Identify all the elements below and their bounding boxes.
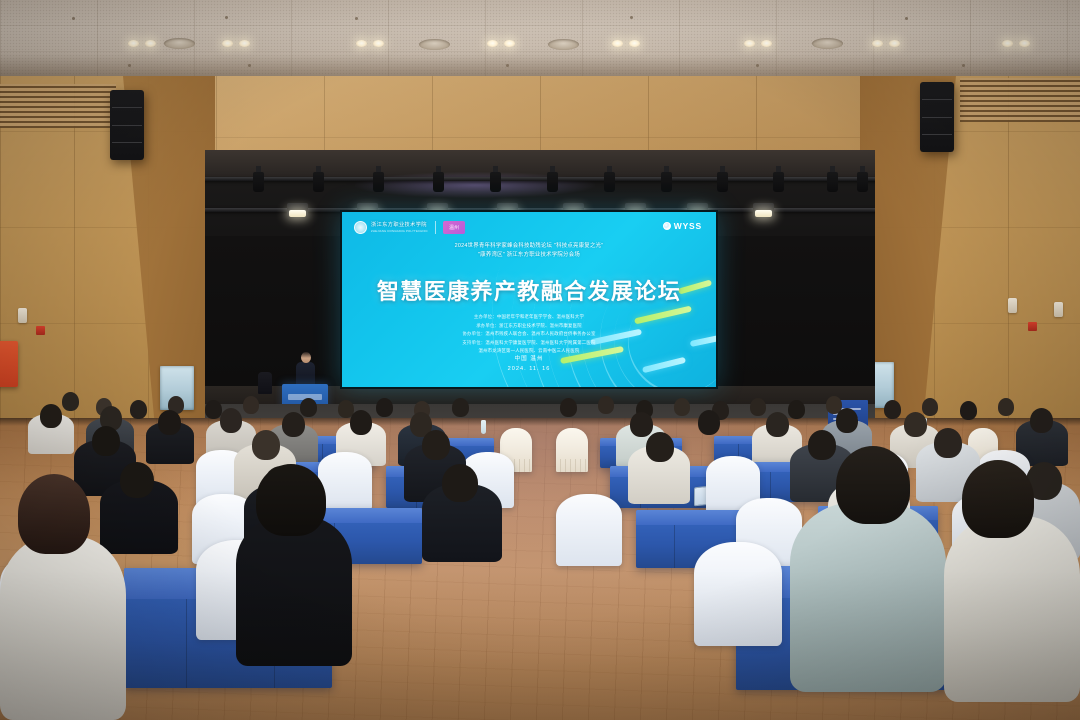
audience-head: [220, 408, 242, 433]
stage-spotlight: [604, 172, 615, 192]
conference-hall-photo: 浙江东方职业技术学院 ZHEJIANG DONGFANG POLYTECHNIC…: [0, 0, 1080, 720]
water-bottle: [481, 420, 486, 434]
ceiling-downlight: [612, 40, 623, 47]
host-university-name: 浙江东方职业技术学院: [371, 222, 428, 229]
audience-person-front-far-right: [944, 516, 1080, 702]
vip-chair-cover: [556, 428, 588, 472]
ceiling-downlight: [1019, 40, 1030, 47]
screen-subtitle-line-1: 2024世界青年科学家峰会科技助残论坛 "科技点亮康复之光": [342, 242, 716, 251]
right-wall-switch-box: [1054, 302, 1063, 317]
audience-head: [836, 408, 858, 433]
audience-head: [598, 396, 614, 414]
organizer-row: 协办单位：温州市残疾人联合会、温州市人民政府台侨事务办公室: [342, 330, 716, 339]
logo-divider: [435, 221, 436, 234]
audience-head: [92, 426, 120, 456]
screen-subtitle: 2024世界青年科学家峰会科技助残论坛 "科技点亮康复之光" "康养湾区" 浙江…: [342, 242, 716, 260]
ceiling-downlight: [239, 40, 250, 47]
audience-head: [750, 398, 766, 416]
sprinkler-head: [962, 64, 965, 67]
stage-spotlight: [717, 172, 728, 192]
audience-chair-cover: [694, 542, 782, 646]
audience-head: [630, 412, 653, 437]
audience-head: [130, 400, 147, 419]
audience-head: [904, 412, 927, 437]
ceiling-shadow-gradient: [0, 52, 1080, 78]
audience-head: [998, 398, 1014, 416]
audience-head: [18, 474, 90, 554]
stage-spotlight: [373, 172, 384, 192]
wyss-logo-text: WYSS: [674, 221, 702, 231]
audience-head: [836, 446, 910, 524]
sprinkler-head: [905, 17, 908, 20]
university-seal-icon: [354, 221, 367, 234]
organizer-value: 温州医科大学康复医学院、温州医科大学附属第二医院: [485, 340, 595, 345]
audience-person-front-right: [790, 502, 946, 692]
left-fire-alarm-sign: [36, 326, 45, 335]
host-university-logo: 浙江东方职业技术学院 ZHEJIANG DONGFANG POLYTECHNIC: [354, 221, 428, 234]
audience-head: [282, 412, 305, 437]
stage-spotlight: [433, 172, 444, 192]
screen-main-title: 智慧医康养产教融合发展论坛: [342, 274, 716, 306]
host-university-name-en: ZHEJIANG DONGFANG POLYTECHNIC: [371, 229, 428, 233]
screen-footer: 中国 温州 2024. 11. 16: [342, 354, 716, 375]
sprinkler-head: [225, 16, 228, 19]
audience-head: [158, 410, 181, 435]
audience-head: [120, 462, 154, 498]
audience-head: [300, 398, 317, 417]
organizer-row: 承办单位：浙江东方职业技术学院、温州市康复医院: [342, 322, 716, 331]
audience-head: [934, 428, 962, 458]
ceiling-downlight: [1002, 40, 1013, 47]
ceiling-downlight: [761, 40, 772, 47]
audience-head: [62, 392, 79, 411]
organizer-label: 支持单位：: [462, 340, 485, 345]
ceiling-downlight: [872, 40, 883, 47]
screen-date: 2024. 11. 16: [342, 364, 716, 375]
audience-head: [243, 396, 259, 414]
audience-head: [962, 460, 1034, 538]
audience-head: [256, 464, 326, 536]
ceiling-downlight: [356, 40, 367, 47]
ceiling-downlight: [629, 40, 640, 47]
stage-spotlight: [313, 172, 324, 192]
ceiling-air-vent: [548, 39, 579, 50]
ceiling-downlight: [373, 40, 384, 47]
audience-head: [808, 430, 836, 460]
organizer-row: 支持单位：温州医科大学康复医学院、温州医科大学附属第二医院: [342, 339, 716, 348]
audience-person-front-left: [0, 536, 126, 720]
ceiling-air-vent: [164, 38, 195, 49]
stage-spotlight: [490, 172, 501, 192]
screen-location: 中国 温州: [342, 354, 716, 365]
stage-spotlight: [661, 172, 672, 192]
stage-spotlight: [253, 172, 264, 192]
audience-head: [350, 410, 372, 435]
organizer-value: 浙江东方职业技术学院、温州市康复医院: [499, 323, 582, 328]
audience-head: [646, 432, 674, 462]
sprinkler-head: [72, 17, 75, 20]
stage-spotlight: [773, 172, 784, 192]
ceiling-downlight: [145, 40, 156, 47]
left-line-array-speaker: [110, 90, 144, 160]
audience-head: [1030, 408, 1053, 433]
audience-head: [698, 410, 720, 435]
audience-person-front-mid: [236, 516, 352, 666]
audience-head: [422, 430, 450, 460]
sprinkler-head: [248, 64, 251, 67]
right-wall-device-box: [1008, 298, 1017, 313]
organizer-value: 中国老年学和老年医学学会、温州医科大学: [497, 314, 584, 319]
organizer-value: 温州市残疾人联合会、温州市人民政府台侨事务办公室: [485, 331, 595, 336]
organizer-label: 承办单位：: [476, 323, 499, 328]
ceiling-downlight: [744, 40, 755, 47]
audience-head: [766, 412, 789, 437]
organizer-label: 主办单位：: [474, 314, 497, 319]
sprinkler-head: [756, 64, 759, 67]
right-line-array-speaker: [920, 82, 954, 152]
audience-head: [252, 430, 280, 460]
stage-spotlight: [827, 172, 838, 192]
ceiling-downlight: [128, 40, 139, 47]
screen-subtitle-line-2: "康养湾区" 浙江东方职业技术学院分会场: [342, 251, 716, 260]
right-fire-alarm-sign: [1028, 322, 1037, 331]
stage-spotlight: [547, 172, 558, 192]
screen-organizer-list: 主办单位：中国老年学和老年医学学会、温州医科大学 承办单位：浙江东方职业技术学院…: [342, 313, 716, 356]
stage-spotlight: [857, 172, 868, 192]
sprinkler-head: [355, 17, 358, 20]
wyss-logo: WYSS: [663, 221, 702, 231]
audience-head: [442, 464, 478, 502]
ceiling-air-vent: [812, 38, 843, 49]
ceiling-downlight: [222, 40, 233, 47]
led-presentation-screen: 浙江东方职业技术学院 ZHEJIANG DONGFANG POLYTECHNIC…: [342, 212, 716, 387]
sprinkler-head: [128, 64, 131, 67]
left-side-wall: [0, 76, 215, 420]
left-wall-device-box: [18, 308, 27, 323]
right-acoustic-grille: [960, 78, 1080, 122]
audience-head: [674, 398, 690, 416]
left-acoustic-grille: [0, 84, 116, 128]
left-fire-extinguisher-cabinet: [0, 341, 18, 387]
screen-logo-header: 浙江东方职业技术学院 ZHEJIANG DONGFANG POLYTECHNIC…: [342, 216, 716, 238]
stage-fresnel-light: [287, 203, 308, 218]
audience-head: [960, 401, 977, 420]
organizer-value: 温州市龙湾区第一人民医院、云南中医三人民医院: [479, 348, 580, 353]
ceiling-downlight: [487, 40, 498, 47]
stage-fresnel-light: [753, 203, 774, 218]
audience-head: [560, 398, 577, 417]
wyss-mark-icon: [663, 222, 671, 230]
audience-head: [376, 398, 393, 417]
sprinkler-head: [506, 64, 509, 67]
stage-purple-glow: [355, 172, 595, 198]
ceiling-air-vent: [419, 39, 450, 50]
stage-attendant: [258, 372, 272, 394]
organizer-row: 主办单位：中国老年学和老年医学学会、温州医科大学: [342, 313, 716, 322]
audience-head: [884, 400, 901, 419]
audience-head: [40, 404, 62, 428]
audience-chair-cover: [318, 452, 372, 510]
sprinkler-head: [630, 16, 633, 19]
audience-head: [452, 398, 469, 417]
organizer-label: 协办单位：: [462, 331, 485, 336]
right-side-wall: [860, 76, 1080, 420]
ceiling-downlight: [889, 40, 900, 47]
stage-speaker-head: [301, 352, 311, 363]
audience-head: [788, 400, 805, 419]
partner-logo: 温州: [443, 221, 465, 234]
audience-chair-cover: [556, 494, 622, 566]
ceiling-downlight: [504, 40, 515, 47]
audience-head: [922, 398, 938, 416]
